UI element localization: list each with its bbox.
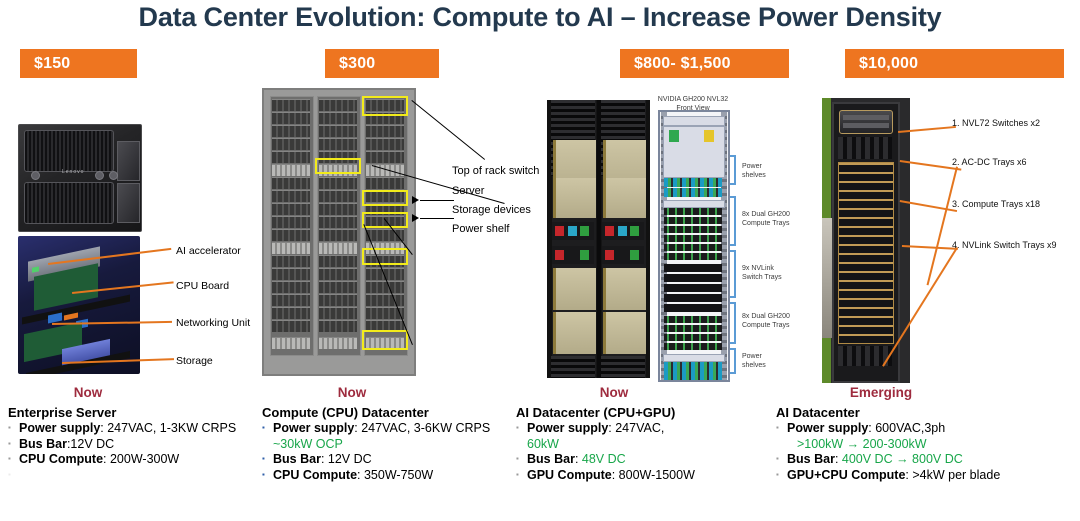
emerging-ai-datacenter-rack-photo: [822, 98, 910, 383]
subheading-col1: Enterprise Server: [8, 405, 258, 420]
spec-item: Bus Bar: 400V DC → 800V DC: [776, 452, 1076, 468]
brace-power-shelves-top: [730, 155, 736, 185]
leader-line-storage-devices: [420, 200, 454, 201]
spec-value: :12V DC: [67, 437, 114, 451]
spec-item: Power supply: 600VAC,3ph >100kW → 200-30…: [776, 421, 1076, 452]
spec-key: CPU Compute: [19, 452, 103, 466]
highlight-box-power-shelf-2: [362, 330, 408, 350]
leader-line-storage-devices-2: [420, 218, 454, 219]
brace-compute-trays-bottom: [730, 302, 736, 344]
spec-item: Power supply: 247VAC, 3-6KW CRPS ~30kW O…: [262, 421, 512, 452]
footer-column-compute-datacenter: Now Compute (CPU) Datacenter Power suppl…: [262, 385, 512, 483]
spec-key: Power supply: [787, 421, 868, 435]
spec-value: : 247VAC, 3-6KW CRPS: [354, 421, 490, 435]
annotation-storage-devices: Storage devices: [452, 204, 531, 216]
enterprise-server-chassis-photo: Lenovo: [18, 124, 142, 232]
spec-highlight: 60kW: [527, 437, 559, 451]
spec-key: Power supply: [273, 421, 354, 435]
server-internals-photo: [18, 236, 140, 374]
spec-list-col4: Power supply: 600VAC,3ph >100kW → 200-30…: [776, 421, 1076, 483]
spec-value: : 247VAC, 1-3KW CRPS: [100, 421, 236, 435]
diagram-title-nvl32: NVIDIA GH200 NVL32: [655, 95, 731, 104]
leader-line-nvlink-switch-trays: [902, 245, 958, 250]
spec-item-clipped: [8, 468, 258, 484]
highlight-box-server: [315, 158, 361, 174]
spec-list-col2: Power supply: 247VAC, 3-6KW CRPS ~30kW O…: [262, 421, 512, 483]
spec-key: Bus Bar: [273, 452, 321, 466]
numbered-label-compute-trays: 3. Compute Trays x18: [952, 199, 1040, 209]
label-power-shelves-bottom: Powershelves: [742, 352, 766, 370]
spec-list-col3: Power supply: 247VAC, 60kW Bus Bar: 48V …: [516, 421, 772, 483]
spec-highlight: ~30kW OCP: [273, 437, 343, 451]
numbered-label-nvl72-switches: 1. NVL72 Switches x2: [952, 118, 1040, 128]
nvl32-front-view-diagram: [658, 110, 730, 382]
subheading-col4: AI Datacenter: [776, 405, 1076, 420]
subheading-col2: Compute (CPU) Datacenter: [262, 405, 512, 420]
spec-key: Power supply: [19, 421, 100, 435]
brace-nvlink-switch-trays: [730, 250, 736, 298]
spec-highlight: 48V DC: [582, 452, 626, 466]
annotation-networking-unit: Networking Unit: [176, 317, 250, 329]
spec-key: Bus Bar: [787, 452, 835, 466]
spec-key: GPU+CPU Compute: [787, 468, 905, 482]
spec-item: Bus Bar: 12V DC: [262, 452, 512, 468]
annotation-power-shelf: Power shelf: [452, 223, 509, 235]
spec-item: GPU Compute: 800W-1500W: [516, 468, 772, 484]
spec-value: : 200W-300W: [103, 452, 179, 466]
price-badge-col3: $800- $1,500: [620, 49, 789, 78]
footer-column-enterprise-server: Now Enterprise Server Power supply: 247V…: [8, 385, 258, 483]
spec-item: Bus Bar:12V DC: [8, 437, 258, 453]
spec-item: Power supply: 247VAC, 1-3KW CRPS: [8, 421, 258, 437]
label-compute-trays-bottom: 8x Dual GH200Compute Trays: [742, 312, 790, 330]
price-badge-col4: $10,000: [845, 49, 1064, 78]
status-label-col4: Emerging: [776, 385, 1076, 400]
status-label-col3: Now: [516, 385, 772, 400]
label-power-shelves-top: Powershelves: [742, 162, 766, 180]
arrow-storage-devices-1: [412, 196, 419, 204]
cpu-datacenter-rack-photo: [262, 88, 416, 376]
leader-line-top-of-rack-switch: [411, 100, 485, 160]
numbered-label-ac-dc-trays: 2. AC-DC Trays x6: [952, 157, 1027, 167]
annotation-cpu-board: CPU Board: [176, 280, 229, 292]
numbered-label-nvlink-switch-trays: 4. NVLink Switch Trays x9: [952, 240, 1057, 250]
spec-value: : 12V DC: [321, 452, 372, 466]
spec-value: :: [575, 452, 582, 466]
spec-key: Power supply: [527, 421, 608, 435]
spec-key: CPU Compute: [273, 468, 357, 482]
status-label-col1: Now: [8, 385, 258, 400]
spec-list-col1: Power supply: 247VAC, 1-3KW CRPS Bus Bar…: [8, 421, 258, 483]
spec-item: CPU Compute: 200W-300W: [8, 452, 258, 468]
label-compute-trays-top: 8x Dual GH200Compute Trays: [742, 210, 790, 228]
spec-value: : 800W-1500W: [612, 468, 695, 482]
spec-value: : 600VAC,3ph: [868, 421, 945, 435]
spec-item: GPU+CPU Compute: >4kW per blade: [776, 468, 1076, 484]
annotation-server: Server: [452, 185, 484, 197]
arrow-storage-devices-2: [412, 214, 419, 222]
status-label-col2: Now: [262, 385, 512, 400]
spec-item: Bus Bar: 48V DC: [516, 452, 772, 468]
label-nvlink-switch-trays: 9x NVLinkSwitch Trays: [742, 264, 782, 282]
spec-value: : 247VAC,: [608, 421, 664, 435]
brace-power-shelves-bottom: [730, 348, 736, 374]
subheading-col3: AI Datacenter (CPU+GPU): [516, 405, 772, 420]
annotation-storage: Storage: [176, 355, 213, 367]
highlight-box-storage-devices-1: [362, 190, 408, 206]
spec-key: GPU Compute: [527, 468, 612, 482]
spec-highlight: 400V DC → 800V DC: [842, 452, 963, 466]
annotation-ai-accelerator: AI accelerator: [176, 245, 241, 257]
ai-datacenter-rack-photo: [547, 100, 650, 378]
spec-key: Bus Bar: [527, 452, 575, 466]
spec-item: CPU Compute: 350W-750W: [262, 468, 512, 484]
page-title: Data Center Evolution: Compute to AI – I…: [0, 2, 1080, 33]
spec-key: Bus Bar: [19, 437, 67, 451]
spec-value: : 350W-750W: [357, 468, 433, 482]
price-badge-col1: $150: [20, 49, 137, 78]
highlight-box-top-of-rack-switch: [362, 96, 408, 116]
spec-value: :: [835, 452, 842, 466]
footer-column-ai-datacenter-cpu-gpu: Now AI Datacenter (CPU+GPU) Power supply…: [516, 385, 772, 483]
annotation-top-of-rack-switch: Top of rack switch: [452, 165, 539, 177]
highlight-box-power-shelf-1: [362, 248, 408, 265]
brace-compute-trays-top: [730, 196, 736, 246]
spec-highlight: >100kW → 200-300kW: [787, 437, 927, 451]
spec-item: Power supply: 247VAC, 60kW: [516, 421, 772, 452]
footer-column-emerging-ai-datacenter: Emerging AI Datacenter Power supply: 600…: [776, 385, 1076, 483]
spec-value: : >4kW per blade: [905, 468, 1000, 482]
price-badge-col2: $300: [325, 49, 439, 78]
